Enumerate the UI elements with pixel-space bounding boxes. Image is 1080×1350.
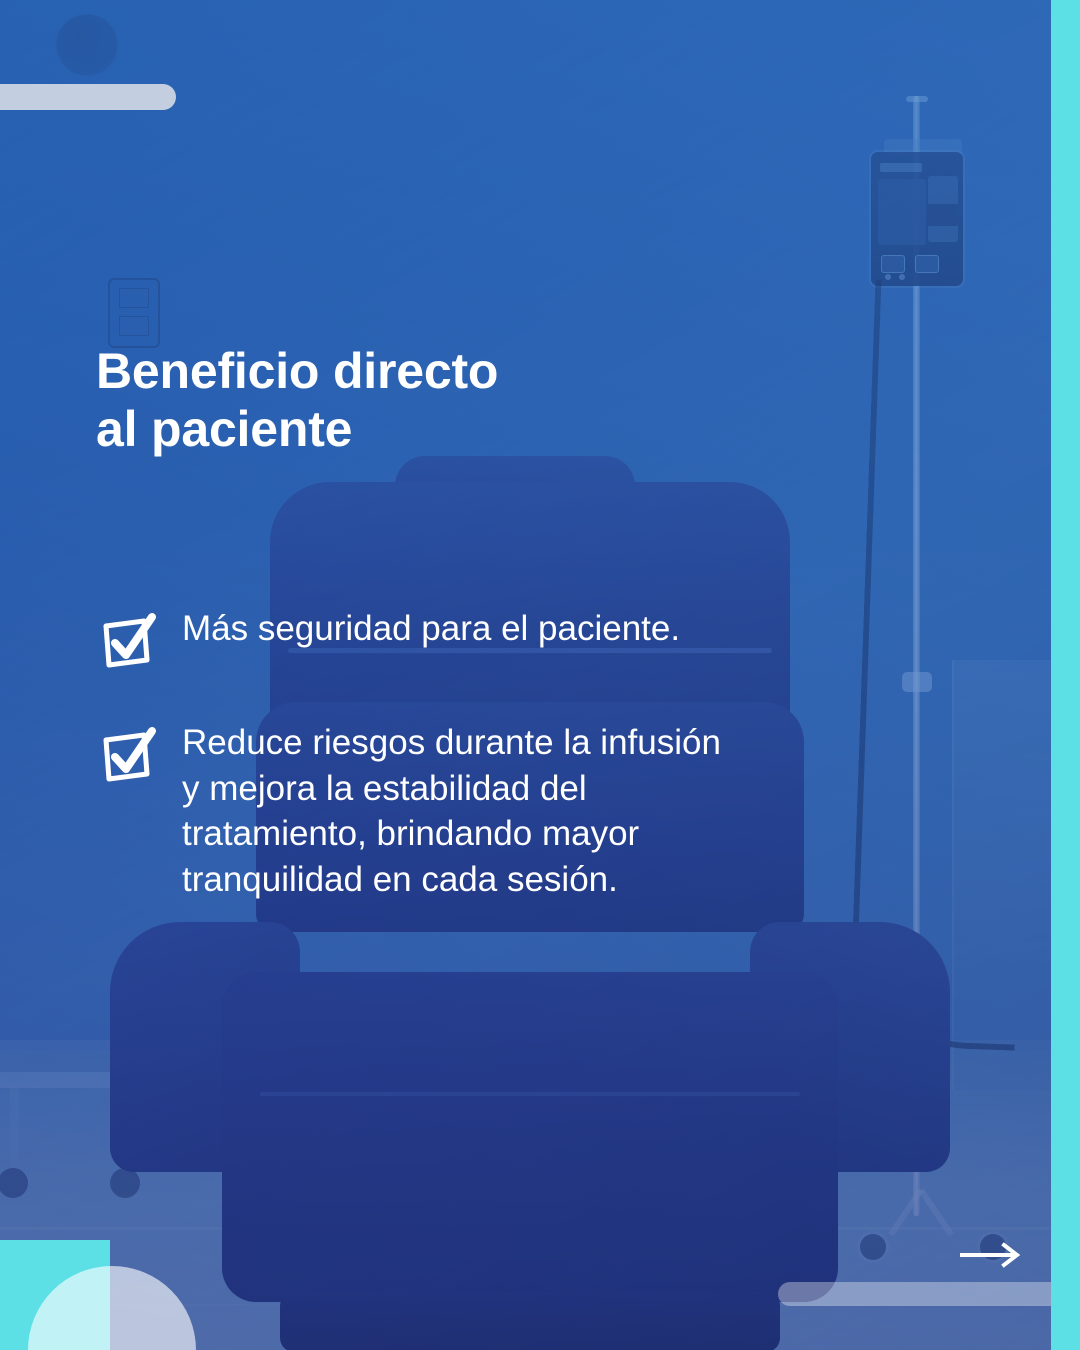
list-item: Reduce riesgos durante la infusión y mej… [100,718,920,902]
page-title: Beneficio directo al paciente [96,342,498,458]
slide-canvas: Beneficio directo al paciente Más seguri… [0,0,1080,1350]
checkbox-check-icon [100,610,160,672]
benefit-list: Más seguridad para el paciente. Reduce r… [100,604,920,902]
list-item-label: Más seguridad para el paciente. [182,604,680,652]
content-layer: Beneficio directo al paciente Más seguri… [0,0,1080,1350]
list-item-label: Reduce riesgos durante la infusión y mej… [182,718,721,902]
list-item: Más seguridad para el paciente. [100,604,920,672]
checkbox-check-icon [100,724,160,786]
next-slide-button[interactable] [960,1242,1022,1268]
arrow-right-icon [960,1255,1022,1272]
